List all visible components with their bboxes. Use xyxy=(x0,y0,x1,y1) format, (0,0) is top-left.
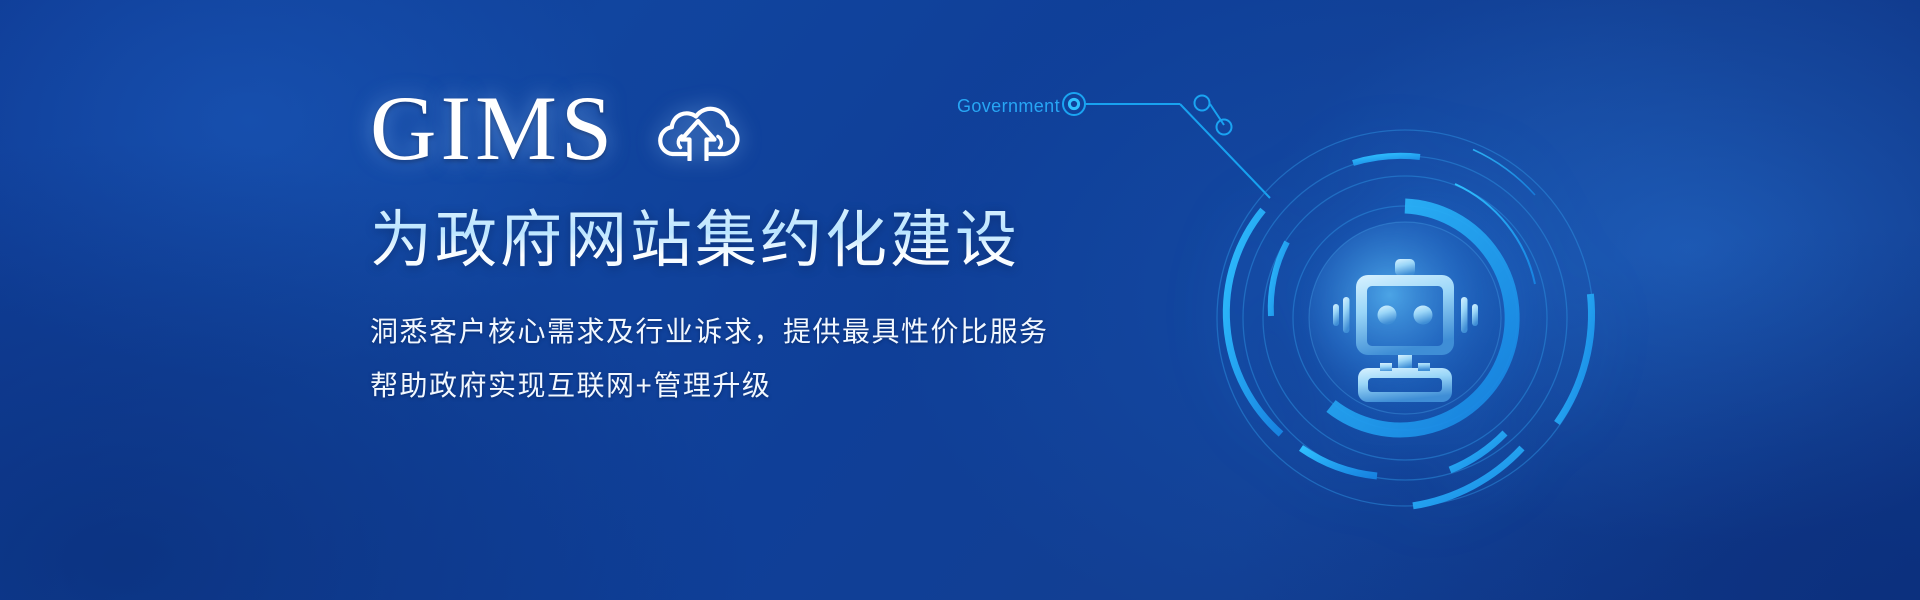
cloud-upload-icon xyxy=(656,101,740,161)
government-node-label: Government xyxy=(940,96,1060,117)
tech-ring-graphic xyxy=(1205,118,1605,518)
brand-title: GIMS xyxy=(370,82,616,174)
ring-node-icon xyxy=(1063,93,1085,115)
circuit-node-upper xyxy=(1195,96,1210,111)
hero-subtitle-block: 洞悉客户核心需求及行业诉求，提供最具性价比服务 帮助政府实现互联网+管理升级 xyxy=(370,315,1130,402)
gims-hero-banner: GIMS 为政府网站集约化建设 洞悉客户核心需求及行业诉求，提供最具性价比服务 … xyxy=(0,0,1920,600)
subtitle-line-2: 帮助政府实现互联网+管理升级 xyxy=(370,369,1130,403)
subtitle-line-1: 洞悉客户核心需求及行业诉求，提供最具性价比服务 xyxy=(370,315,1130,349)
